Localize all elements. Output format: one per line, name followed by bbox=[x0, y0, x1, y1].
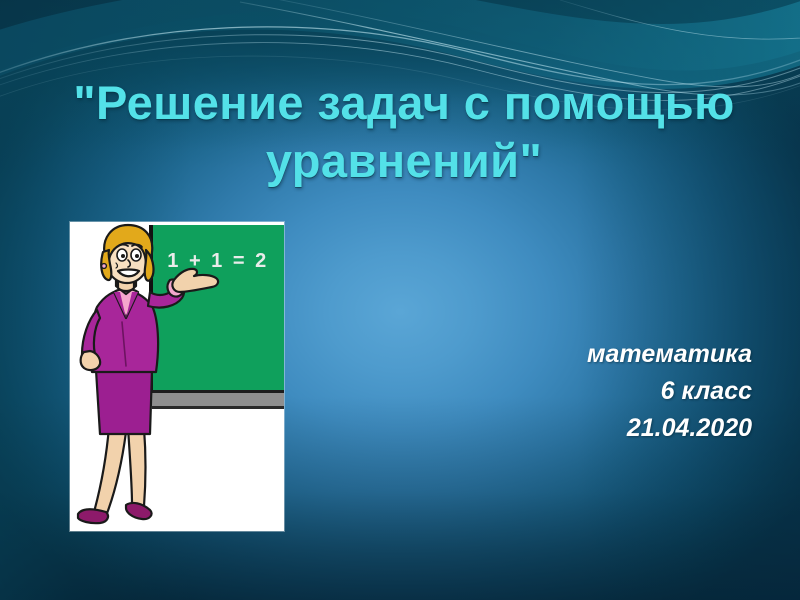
teacher-chalkboard-illustration: 1 + 1 = 2 bbox=[70, 222, 284, 531]
subtitle-line-grade: 6 класс bbox=[412, 373, 752, 410]
slide-subtitle: математика 6 класс 21.04.2020 bbox=[412, 336, 752, 447]
presentation-slide: "Решение задач с помощью уравнений" 1 + … bbox=[0, 0, 800, 600]
slide-title: "Решение задач с помощью уравнений" bbox=[48, 74, 760, 191]
chalkboard-equation-text: 1 + 1 = 2 bbox=[167, 250, 268, 272]
chalkboard-group: 1 + 1 = 2 bbox=[149, 225, 284, 409]
teacher-chalkboard-image: 1 + 1 = 2 bbox=[70, 222, 284, 531]
subtitle-line-subject: математика bbox=[412, 336, 752, 373]
subtitle-line-date: 21.04.2020 bbox=[412, 410, 752, 447]
slide-title-text: "Решение задач с помощью уравнений" bbox=[48, 74, 760, 191]
